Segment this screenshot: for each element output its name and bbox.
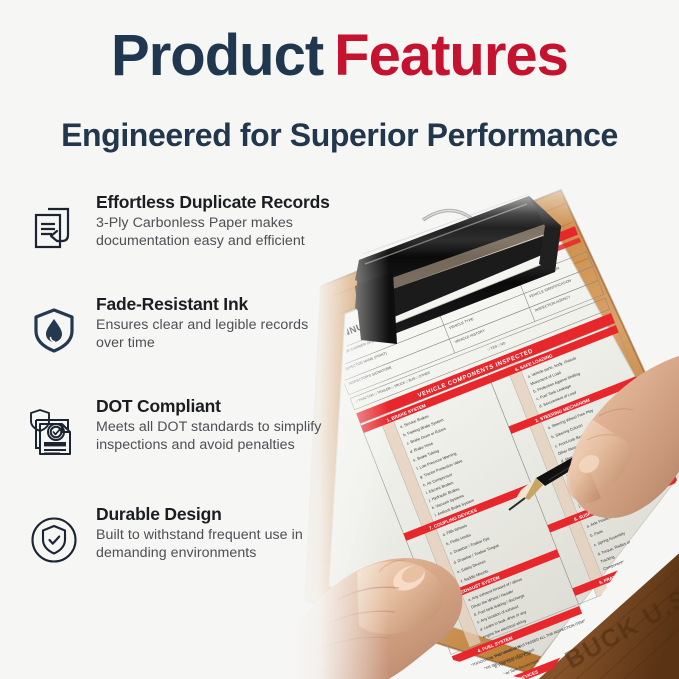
duplicate-documents-icon — [22, 196, 86, 260]
feature-item-fade-resistant-ink: Fade-Resistant Ink Ensures clear and leg… — [18, 294, 358, 382]
feature-item-durable-design: Durable Design Built to withstand freque… — [18, 504, 358, 592]
feature-body-line-2: demanding environments — [96, 545, 358, 563]
shield-check-circle-icon — [22, 508, 86, 572]
feature-body-line-2: over time — [96, 335, 358, 353]
page-title: ProductFeatures — [0, 24, 679, 88]
feature-heading: DOT Compliant — [96, 396, 358, 417]
feature-body: Built to withstand frequent use in deman… — [96, 527, 358, 562]
feature-heading: Fade-Resistant Ink — [96, 294, 358, 315]
feature-item-duplicate-records: Effortless Duplicate Records 3-Ply Carbo… — [18, 192, 358, 280]
feature-body-line-2: inspections and avoid penalties — [96, 437, 358, 455]
feature-body-line-1: Built to withstand frequent use in — [96, 527, 358, 545]
feature-body-line-2: documentation easy and efficient — [96, 233, 358, 251]
page-subtitle: Engineered for Superior Performance — [0, 115, 679, 155]
page-title-part-1: Product — [111, 23, 323, 88]
feature-body: 3-Ply Carbonless Paper makes documentati… — [96, 215, 358, 250]
feature-heading: Durable Design — [96, 504, 358, 525]
feature-heading: Effortless Duplicate Records — [96, 192, 358, 213]
feature-body-line-1: 3-Ply Carbonless Paper makes — [96, 215, 358, 233]
feature-body: Meets all DOT standards to simplify insp… — [96, 419, 358, 454]
feature-body: Ensures clear and legible records over t… — [96, 317, 358, 352]
feature-item-dot-compliant: DOT Compliant Meets all DOT standards to… — [18, 396, 358, 484]
feature-body-line-1: Ensures clear and legible records — [96, 317, 358, 335]
feature-list: Effortless Duplicate Records 3-Ply Carbo… — [18, 192, 358, 604]
certified-document-shield-icon — [22, 400, 86, 464]
feature-body-line-1: Meets all DOT standards to simplify — [96, 419, 358, 437]
page-title-part-2: Features — [334, 23, 568, 88]
shield-ink-drop-icon — [22, 298, 86, 362]
infographic-page: ProductFeatures Engineered for Superior … — [0, 0, 679, 679]
